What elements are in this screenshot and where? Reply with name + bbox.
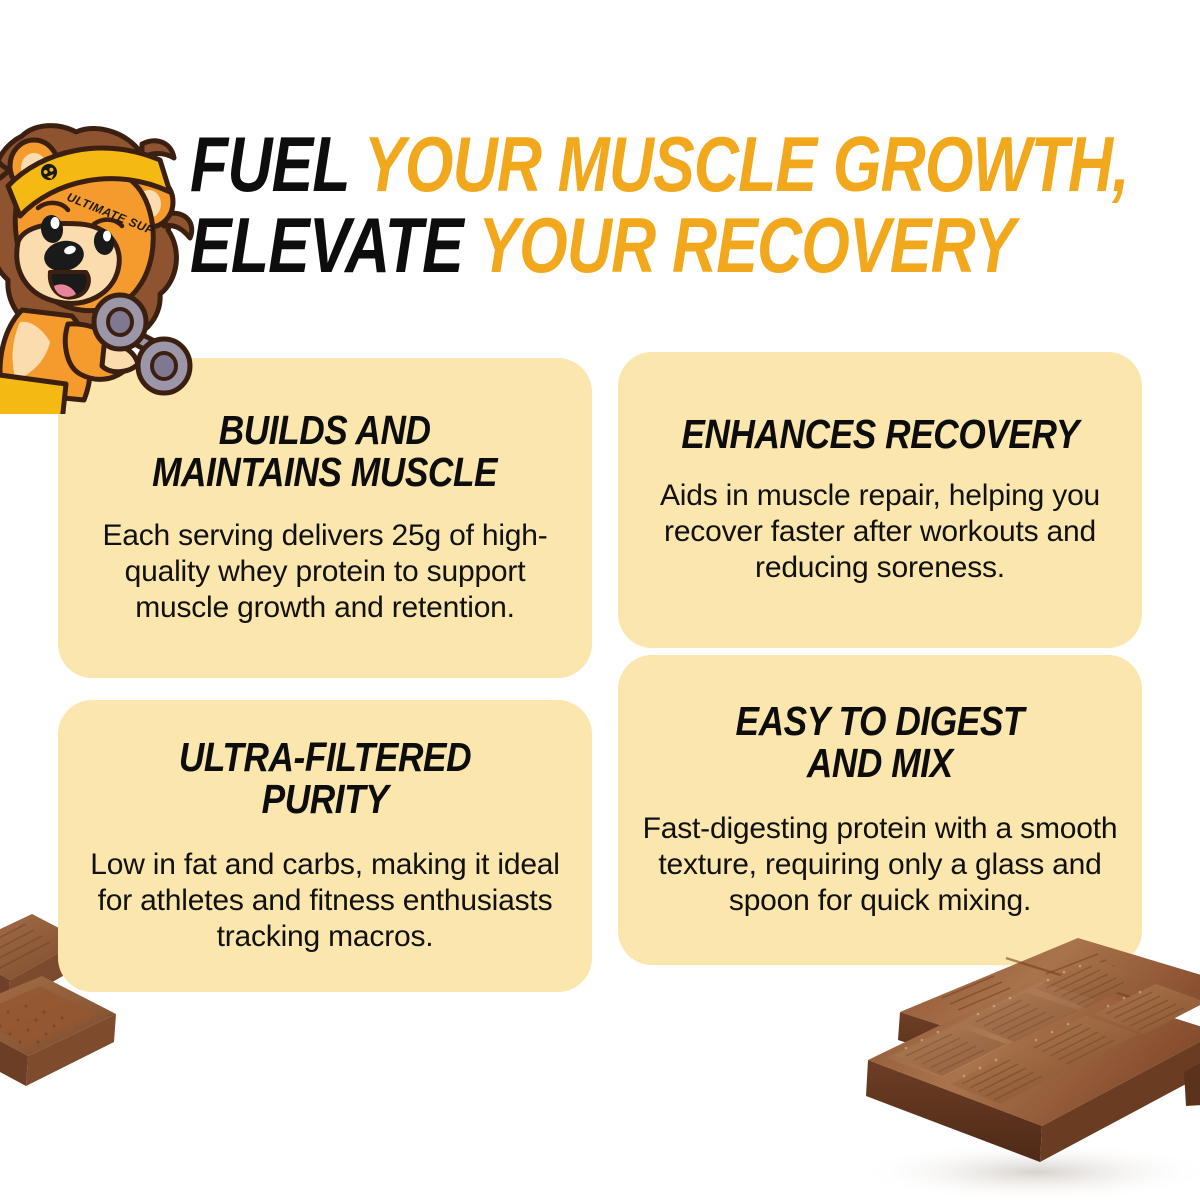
card-title: ENHANCES RECOVERY <box>681 414 1079 456</box>
headline: FUEL YOUR MUSCLE GROWTH, ELEVATE YOUR RE… <box>190 128 1160 281</box>
lion-mascot: ULTIMATE SUP <box>0 74 202 414</box>
headline-line-2-dark: ELEVATE <box>190 201 463 289</box>
card-title: ULTRA-FILTERED PURITY <box>114 737 535 821</box>
benefit-card-ultra-filtered-purity: ULTRA-FILTERED PURITY Low in fat and car… <box>58 700 592 992</box>
headline-line-1-dark: FUEL <box>190 120 349 208</box>
headline-line-2-accent: YOUR RECOVERY <box>478 201 1014 289</box>
headline-line-1: FUEL YOUR MUSCLE GROWTH, <box>190 128 966 201</box>
headline-line-2: ELEVATE YOUR RECOVERY <box>190 209 966 282</box>
card-body: Aids in muscle repair, helping you recov… <box>640 478 1120 586</box>
infographic-canvas: ULTIMATE SUP <box>0 0 1200 1200</box>
card-body: Each serving delivers 25g of high-qualit… <box>80 518 570 626</box>
card-title: EASY TO DIGEST AND MIX <box>736 701 1025 785</box>
headline-line-1-accent: YOUR MUSCLE GROWTH, <box>364 120 1129 208</box>
chocolate-bars-right <box>846 896 1200 1200</box>
card-title: BUILDS AND MAINTAINS MUSCLE <box>152 410 497 494</box>
card-body: Low in fat and carbs, making it ideal fo… <box>80 847 570 955</box>
benefit-card-enhances-recovery: ENHANCES RECOVERY Aids in muscle repair,… <box>618 352 1142 648</box>
